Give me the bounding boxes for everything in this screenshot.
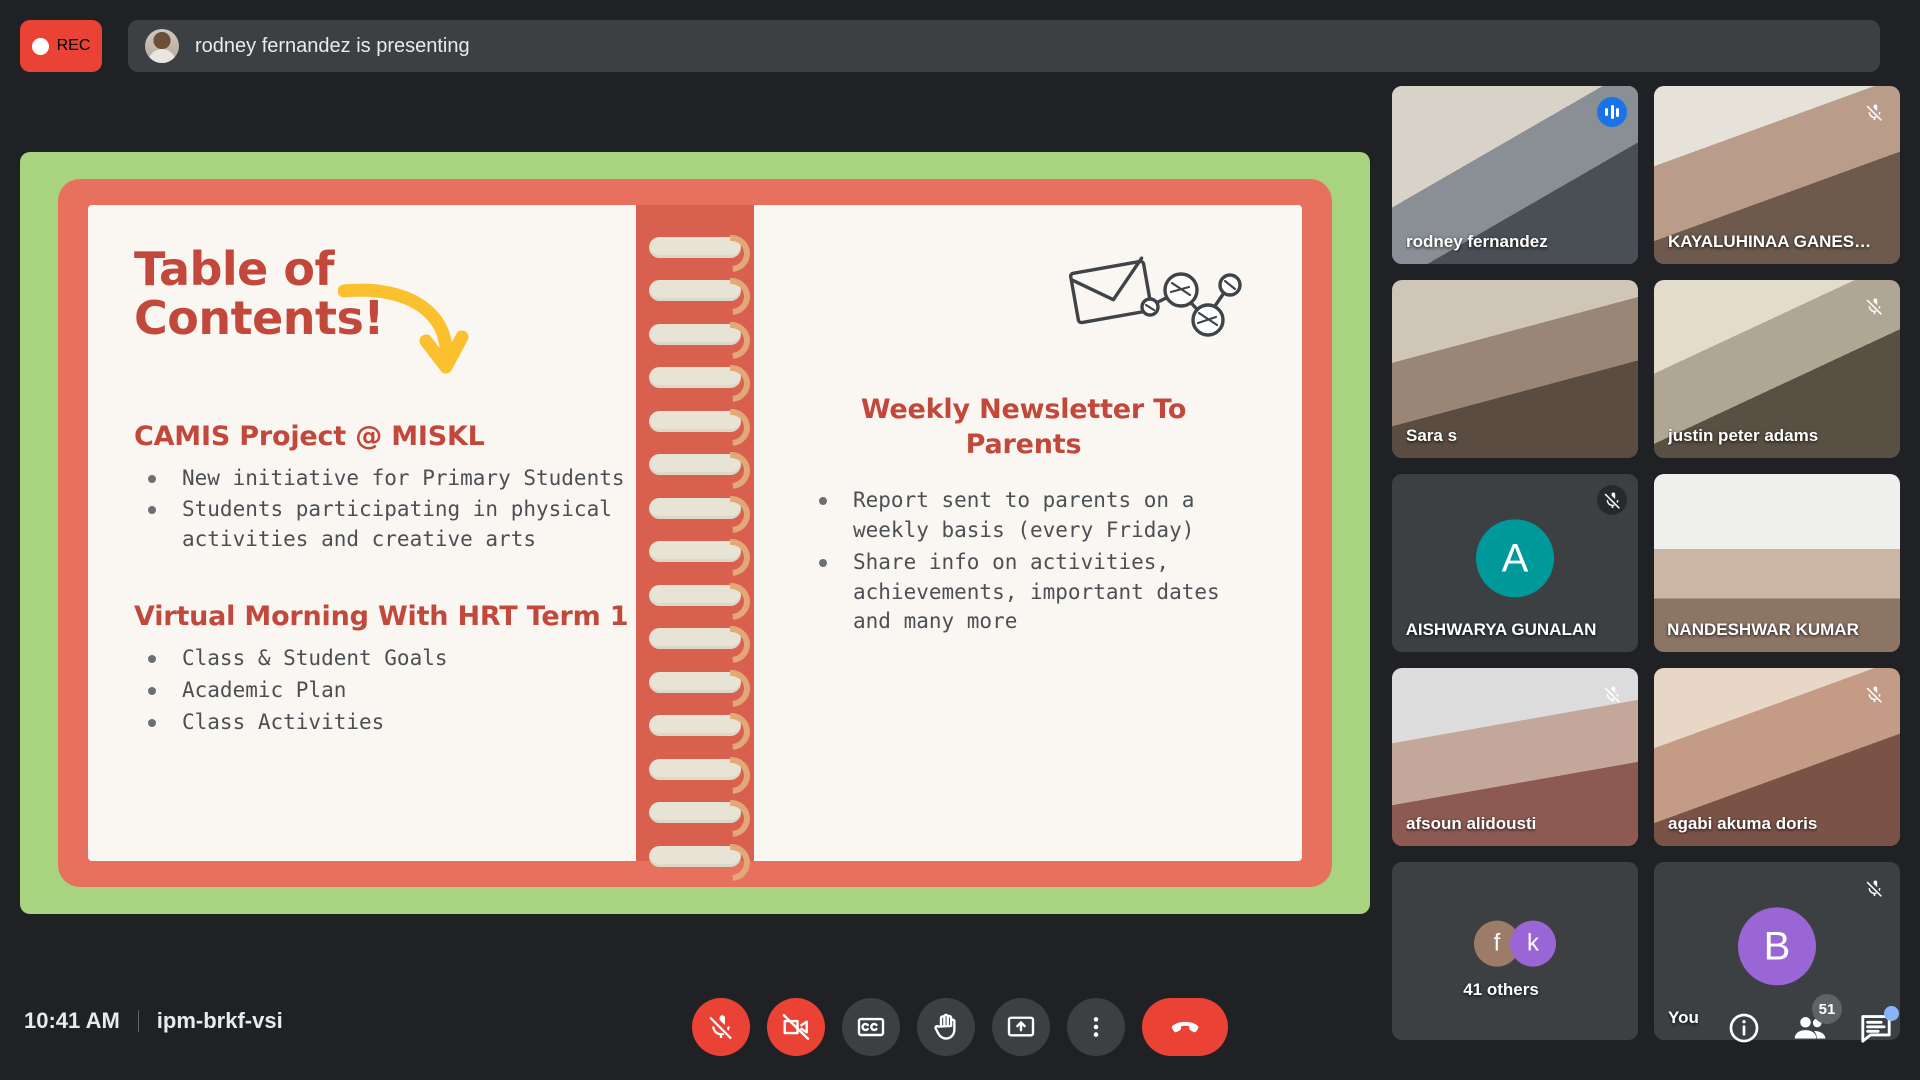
presentation-stage[interactable]: Table ofContents! CAMIS Project @ MISKL … <box>20 152 1370 914</box>
participant-name: Sara s <box>1406 426 1457 446</box>
info-icon[interactable] <box>1726 1010 1762 1046</box>
participant-name: NANDESHWAR KUMAR <box>1654 620 1872 640</box>
spiral-ring <box>649 672 741 693</box>
meeting-code[interactable]: ipm-brkf-vsi <box>157 1008 283 1034</box>
section-heading: CAMIS Project @ MISKL <box>134 421 649 452</box>
call-controls <box>692 998 1228 1056</box>
spiral-ring <box>649 759 741 780</box>
participant-tile[interactable]: justin peter adams <box>1654 280 1900 458</box>
slide-left-page: Table ofContents! CAMIS Project @ MISKL … <box>88 205 695 861</box>
mic-off-icon <box>1859 291 1889 321</box>
participant-name: justin peter adams <box>1668 426 1818 446</box>
spiral-ring <box>649 498 741 519</box>
mic-off-icon[interactable] <box>692 998 750 1056</box>
spiral-ring <box>649 715 741 736</box>
participant-name: AISHWARYA GUNALAN <box>1392 620 1610 640</box>
mic-off-icon <box>1597 679 1627 709</box>
current-time: 10:41 AM <box>24 1008 120 1034</box>
presenting-label: rodney fernandez is presenting <box>195 35 470 58</box>
right-page-bullets: Report sent to parents on a weekly basis… <box>805 486 1242 637</box>
slide-section-camis: CAMIS Project @ MISKL New initiative for… <box>134 421 649 555</box>
avatar: A <box>1476 519 1554 597</box>
participant-row: rodney fernandez KAYALUHINAA GANES… <box>1392 86 1900 264</box>
others-avatar-stack: fk <box>1474 921 1556 967</box>
list-item: Share info on activities, achievements, … <box>805 548 1242 637</box>
mic-off-icon <box>1859 97 1889 127</box>
top-bar: REC rodney fernandez is presenting <box>0 0 1920 92</box>
end-call-icon[interactable] <box>1142 998 1228 1056</box>
list-item: Students participating in physical activ… <box>134 495 649 555</box>
section-heading: Virtual Morning With HRT Term 1 <box>134 601 649 632</box>
participant-tile[interactable]: NANDESHWAR KUMAR <box>1654 474 1900 652</box>
participant-row: afsoun alidousti agabi akuma doris <box>1392 668 1900 846</box>
record-dot-icon <box>32 38 49 55</box>
spiral-ring <box>649 411 741 432</box>
divider <box>138 1010 139 1032</box>
meeting-info: 10:41 AM ipm-brkf-vsi <box>24 1008 283 1034</box>
present-screen-icon[interactable] <box>992 998 1050 1056</box>
spiral-ring <box>649 280 741 301</box>
spiral-ring <box>649 628 741 649</box>
participant-name: rodney fernandez <box>1406 232 1548 252</box>
audio-activity-icon <box>1597 97 1627 127</box>
spiral-ring <box>649 802 741 823</box>
avatar: k <box>1510 921 1556 967</box>
more-options-icon[interactable] <box>1067 998 1125 1056</box>
people-icon[interactable]: 51 <box>1792 1010 1828 1046</box>
section-bullets: Class & Student Goals Academic Plan Clas… <box>134 644 649 737</box>
list-item: Class Activities <box>134 708 649 738</box>
list-item: New initiative for Primary Students <box>134 464 649 494</box>
chat-icon[interactable] <box>1858 1010 1894 1046</box>
right-page-heading: Weekly Newsletter To Parents <box>805 393 1242 462</box>
spiral-ring <box>649 237 741 258</box>
recording-label: REC <box>57 37 91 55</box>
slide-section-virtual-morning: Virtual Morning With HRT Term 1 Class & … <box>134 601 649 737</box>
notebook-cover: Table ofContents! CAMIS Project @ MISKL … <box>58 179 1332 887</box>
bottom-bar: 10:41 AM ipm-brkf-vsi <box>0 970 1920 1080</box>
participant-tile[interactable]: A AISHWARYA GUNALAN <box>1392 474 1638 652</box>
closed-captions-icon[interactable] <box>842 998 900 1056</box>
section-bullets: New initiative for Primary Students Stud… <box>134 464 649 555</box>
notebook-spiral-rings <box>649 231 741 835</box>
meet-window: REC rodney fernandez is presenting Table… <box>0 0 1920 1080</box>
spiral-ring <box>649 541 741 562</box>
notebook-paper: Table ofContents! CAMIS Project @ MISKL … <box>88 205 1302 861</box>
spiral-ring <box>649 585 741 606</box>
envelope-network-doodle <box>1068 247 1248 355</box>
list-item: Class & Student Goals <box>134 644 649 674</box>
spiral-ring <box>649 846 741 867</box>
presenting-banner[interactable]: rodney fernandez is presenting <box>128 20 1880 72</box>
participant-grid: rodney fernandez KAYALUHINAA GANES… Sara… <box>1392 86 1900 1056</box>
raise-hand-icon[interactable] <box>917 998 975 1056</box>
camera-off-icon[interactable] <box>767 998 825 1056</box>
list-item: Academic Plan <box>134 676 649 706</box>
participant-row: Sara s justin peter adams <box>1392 280 1900 458</box>
curved-arrow-doodle <box>338 279 470 387</box>
slide-right-page: Weekly Newsletter To Parents Report sent… <box>695 205 1302 861</box>
participant-tile[interactable]: rodney fernandez <box>1392 86 1638 264</box>
recording-badge[interactable]: REC <box>20 20 102 72</box>
participant-tile[interactable]: afsoun alidousti <box>1392 668 1638 846</box>
participant-tile[interactable]: agabi akuma doris <box>1654 668 1900 846</box>
presenter-avatar <box>145 29 179 63</box>
participant-tile[interactable]: Sara s <box>1392 280 1638 458</box>
participant-name: agabi akuma doris <box>1668 814 1817 834</box>
participant-name: KAYALUHINAA GANES… <box>1668 232 1871 252</box>
list-item: Report sent to parents on a weekly basis… <box>805 486 1242 546</box>
participant-name: afsoun alidousti <box>1406 814 1536 834</box>
spiral-ring <box>649 367 741 388</box>
mic-off-icon <box>1859 679 1889 709</box>
mic-off-icon <box>1859 873 1889 903</box>
mic-off-icon <box>1597 485 1627 515</box>
spiral-ring <box>649 454 741 475</box>
chat-unread-dot <box>1884 1006 1899 1021</box>
right-actions: 51 <box>1726 1010 1894 1046</box>
participant-count-badge: 51 <box>1812 994 1842 1024</box>
participant-tile[interactable]: KAYALUHINAA GANES… <box>1654 86 1900 264</box>
participant-row: A AISHWARYA GUNALAN NANDESHWAR KUMAR <box>1392 474 1900 652</box>
spiral-ring <box>649 324 741 345</box>
